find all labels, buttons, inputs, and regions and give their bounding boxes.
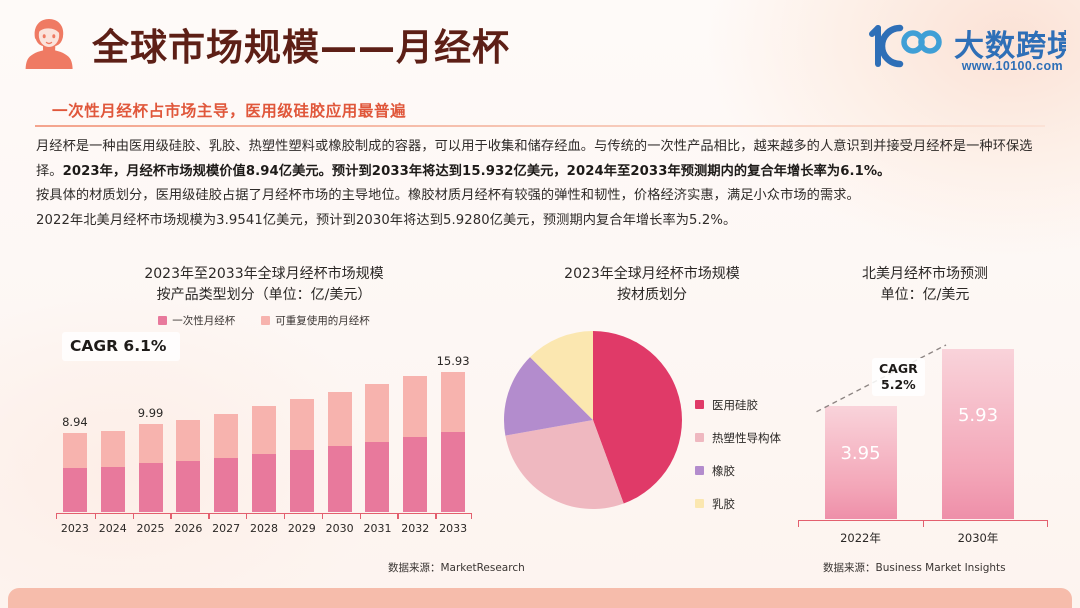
pie-legend-label-医用硅胶: 医用硅胶 xyxy=(712,397,758,413)
na-axis-mid-tick xyxy=(923,521,924,527)
legend-item-reusable: 可重复使用的月经杯 xyxy=(261,313,370,328)
bar-column-2031[interactable] xyxy=(365,384,389,512)
bar-column-2032[interactable] xyxy=(403,376,427,512)
pie-legend-swatch-乳胶 xyxy=(695,499,704,508)
section-heading: 一次性月经杯占市场主导，医用级硅胶应用最普遍 xyxy=(52,99,406,121)
body-copy: 月经杯是一种由医用级硅胶、乳胶、热塑性塑料或橡胶制成的容器，可以用于收集和储存经… xyxy=(36,135,1046,233)
axis-tick-2028 xyxy=(246,514,247,519)
pie-legend-swatch-医用硅胶 xyxy=(695,400,704,409)
na-x-label-2030年: 2030年 xyxy=(958,530,999,546)
x-label-2029: 2029 xyxy=(288,522,316,535)
bar-segment-reusable-2028 xyxy=(252,406,276,453)
source-note-right: 数据来源：Business Market Insights xyxy=(823,560,1006,575)
bar-column-2024[interactable] xyxy=(101,431,125,512)
pie-legend-item-热塑性导构体[interactable]: 热塑性导构体 xyxy=(695,421,781,454)
na-chart-title-line1: 北美月经杯市场预测 xyxy=(790,264,1060,285)
bar-column-2028[interactable] xyxy=(252,406,276,512)
pie-legend-label-橡胶: 橡胶 xyxy=(712,463,735,479)
x-label-2026: 2026 xyxy=(174,522,202,535)
bar-chart-plot-area: 8.949.9915.93 xyxy=(56,366,472,512)
bar-column-2027[interactable] xyxy=(214,414,238,512)
legend-swatch-disposable xyxy=(158,316,167,325)
axis-tick-2033 xyxy=(435,514,436,519)
axis-tick-2029 xyxy=(284,514,285,519)
x-label-2025: 2025 xyxy=(137,522,165,535)
axis-tick-2024 xyxy=(95,514,96,519)
page-title: 全球市场规模——月经杯 xyxy=(92,17,510,71)
bar-segment-reusable-2023 xyxy=(63,433,87,468)
bar-segment-reusable-2026 xyxy=(176,420,200,461)
x-label-2031: 2031 xyxy=(363,522,391,535)
bar-segment-disposable-2024 xyxy=(101,467,125,512)
bar-chart-title-line1: 2023年至2033年全球月经杯市场规模 xyxy=(44,264,484,285)
x-label-2024: 2024 xyxy=(99,522,127,535)
paragraph-1-bold: 2023年，月经杯市场规模价值8.94亿美元。预计到2033年将达到15.932… xyxy=(63,164,891,179)
x-label-2023: 2023 xyxy=(61,522,89,535)
female-avatar-icon xyxy=(18,13,80,75)
legend-label-reusable: 可重复使用的月经杯 xyxy=(275,313,370,328)
axis-tick-2030 xyxy=(322,514,323,519)
pie-legend-item-橡胶[interactable]: 橡胶 xyxy=(695,454,781,487)
legend-swatch-reusable xyxy=(261,316,270,325)
bar-segment-disposable-2033 xyxy=(441,432,465,512)
na-trend-dashed-line xyxy=(798,324,1048,519)
bar-chart-legend: 一次性月经杯 可重复使用的月经杯 xyxy=(44,313,484,328)
bar-segment-reusable-2027 xyxy=(214,414,238,458)
pie-chart-svg xyxy=(503,330,683,510)
x-label-2030: 2030 xyxy=(326,522,354,535)
cagr-value: 5.2% xyxy=(879,377,918,393)
bar-segment-reusable-2025 xyxy=(139,424,163,463)
bar-segment-disposable-2032 xyxy=(403,437,427,512)
x-label-2033: 2033 xyxy=(439,522,467,535)
bar-chart-x-axis xyxy=(56,513,472,519)
bar-chart-title-line2: 按产品类型划分（单位：亿/美元） xyxy=(44,285,484,306)
pie-chart-legend: 医用硅胶热塑性导构体橡胶乳胶 xyxy=(695,388,781,520)
bar-column-2029[interactable] xyxy=(290,399,314,512)
bar-column-2033[interactable] xyxy=(441,372,465,512)
x-label-2028: 2028 xyxy=(250,522,278,535)
footer-bar xyxy=(8,588,1072,608)
cagr-badge-north-america: CAGR 5.2% xyxy=(872,358,925,396)
na-chart-title-line2: 单位：亿/美元 xyxy=(790,285,1060,306)
pie-legend-label-热塑性导构体: 热塑性导构体 xyxy=(712,430,781,446)
bar-segment-disposable-2026 xyxy=(176,461,200,512)
bar-segment-disposable-2023 xyxy=(63,468,87,512)
axis-tick-2025 xyxy=(133,514,134,519)
pie-legend-label-乳胶: 乳胶 xyxy=(712,496,735,512)
x-label-2027: 2027 xyxy=(212,522,240,535)
pie-chart-title-line1: 2023年全球月经杯市场规模 xyxy=(497,264,807,285)
bar-chart-x-labels: 2023202420252026202720282029203020312032… xyxy=(56,522,472,538)
bar-segment-disposable-2031 xyxy=(365,442,389,512)
legend-item-disposable: 一次性月经杯 xyxy=(158,313,235,328)
na-chart-x-axis xyxy=(798,520,1048,527)
paragraph-2: 按具体的材质划分，医用级硅胶占据了月经杯市场的主导地位。橡胶材质月经杯有较强的弹… xyxy=(36,184,1046,209)
chart-global-market-size-by-product-type: 2023年至2033年全球月经杯市场规模 按产品类型划分（单位：亿/美元） 一次… xyxy=(44,264,484,554)
chart-market-size-by-material: 2023年全球月经杯市场规模 按材质划分 医用硅胶热塑性导构体橡胶乳胶 xyxy=(497,264,807,554)
axis-tick-2032 xyxy=(397,514,398,519)
pie-legend-item-医用硅胶[interactable]: 医用硅胶 xyxy=(695,388,781,421)
bar-segment-disposable-2030 xyxy=(328,446,352,512)
bar-segment-disposable-2029 xyxy=(290,450,314,512)
na-chart-plot-area: CAGR 5.2% 3.955.93 xyxy=(798,324,1048,519)
bar-column-2023[interactable] xyxy=(63,433,87,512)
legend-label-disposable: 一次性月经杯 xyxy=(172,313,235,328)
pie-legend-item-乳胶[interactable]: 乳胶 xyxy=(695,487,781,520)
bar-segment-reusable-2031 xyxy=(365,384,389,442)
bar-segment-disposable-2027 xyxy=(214,458,238,512)
bar-segment-reusable-2033 xyxy=(441,372,465,433)
x-label-2032: 2032 xyxy=(401,522,429,535)
paragraph-3: 2022年北美月经杯市场规模为3.9541亿美元，预计到2030年将达到5.92… xyxy=(36,209,1046,234)
axis-tick-2027 xyxy=(208,514,209,519)
page-header: 全球市场规模——月经杯 大数跨境 www.10100.com xyxy=(0,0,1080,88)
bar-value-label-2025: 9.99 xyxy=(138,406,164,420)
bar-column-2026[interactable] xyxy=(176,420,200,512)
bar-segment-reusable-2032 xyxy=(403,376,427,437)
pie-chart-title-line2: 按材质划分 xyxy=(497,285,807,306)
source-note-left: 数据来源：MarketResearch xyxy=(388,560,525,575)
heading-divider xyxy=(35,125,1045,127)
bar-segment-reusable-2030 xyxy=(328,392,352,446)
paragraph-1: 月经杯是一种由医用级硅胶、乳胶、热塑性塑料或橡胶制成的容器，可以用于收集和储存经… xyxy=(36,135,1046,184)
bar-column-2030[interactable] xyxy=(328,392,352,512)
brand-url: www.10100.com xyxy=(962,59,1063,73)
axis-tick-2026 xyxy=(170,514,171,519)
axis-tick-2031 xyxy=(360,514,361,519)
na-x-label-2022年: 2022年 xyxy=(840,530,881,546)
pie-legend-swatch-热塑性导构体 xyxy=(695,433,704,442)
chart-north-america-forecast: 北美月经杯市场预测 单位：亿/美元 CAGR 5.2% 3.955.93 202… xyxy=(790,264,1060,554)
bar-segment-disposable-2025 xyxy=(139,463,163,512)
bar-segment-reusable-2029 xyxy=(290,399,314,450)
bar-segment-reusable-2024 xyxy=(101,431,125,466)
cagr-label: CAGR xyxy=(879,361,918,377)
bar-segment-disposable-2028 xyxy=(252,454,276,512)
cagr-badge-global: CAGR 6.1% xyxy=(62,332,180,361)
bar-column-2025[interactable] xyxy=(139,424,163,512)
pie-legend-swatch-橡胶 xyxy=(695,466,704,475)
bar-value-label-2023: 8.94 xyxy=(62,415,88,429)
bar-value-label-2033: 15.93 xyxy=(437,354,470,368)
